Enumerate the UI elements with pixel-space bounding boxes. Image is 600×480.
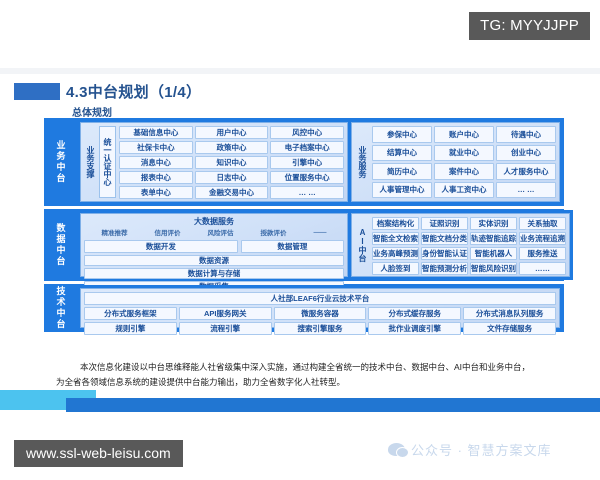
data-band-label: 数据中台: [45, 210, 77, 280]
cell[interactable]: 智能风险识别: [470, 262, 517, 275]
cell[interactable]: 消息中心: [119, 156, 193, 169]
cell[interactable]: 电子档案中心: [270, 141, 344, 154]
cell[interactable]: 流程引擎: [179, 322, 272, 335]
data-band-body: 大数据服务 精准推荐 信用评价 风险评估 授款评价 —— 数据开发 数据管理 数…: [77, 210, 573, 280]
cell[interactable]: 人事工资中心: [434, 182, 494, 199]
tech-platform-panel: 人社部LEAF6行业云技术平台 分布式服务框架 API服务网关 微服务容器 分布…: [80, 288, 560, 328]
cell[interactable]: 业务高峰预测: [372, 247, 419, 260]
cell[interactable]: 结算中心: [372, 145, 432, 162]
cell[interactable]: 就业中心: [434, 145, 494, 162]
cell[interactable]: 微服务容器: [274, 307, 367, 320]
business-band: 业务中台 业务支撑 统一认证中心 基础信息中心 用户中心 风控中心 社保卡中心 …: [44, 118, 564, 206]
cell[interactable]: 日志中心: [195, 171, 269, 184]
wechat-watermark-text: 公众号 · 智慧方案文库: [411, 440, 552, 459]
slide-subtitle: 总体规划: [72, 104, 112, 119]
data-resource-row: 数据资源: [84, 255, 344, 266]
architecture-diagram: 业务中台 业务支撑 统一认证中心 基础信息中心 用户中心 风控中心 社保卡中心 …: [44, 118, 564, 354]
slide-title-row: 4.3中台规划（1/4）: [14, 81, 201, 102]
cell[interactable]: 智能机器人: [470, 247, 517, 260]
data-platform-panel: 大数据服务 精准推荐 信用评价 风险评估 授款评价 —— 数据开发 数据管理 数…: [80, 213, 348, 277]
summary-line-2: 为全省各领域信息系统的建设提供中台能力输出，助力全省数字化人社转型。: [56, 375, 556, 390]
telegram-watermark: TG: MYYJJPP: [469, 12, 590, 40]
cell[interactable]: 简历中心: [372, 163, 432, 180]
cell[interactable]: 分布式缓存服务: [368, 307, 461, 320]
slide-canvas: 4.3中台规划（1/4） 总体规划 业务中台 业务支撑 统一认证中心 基础信息中…: [0, 68, 600, 412]
footer-accent-bar: [66, 398, 600, 412]
cell[interactable]: 档案结构化: [372, 217, 419, 230]
cell[interactable]: 身份智能认证: [421, 247, 468, 260]
cell[interactable]: 风控中心: [270, 126, 344, 139]
cell[interactable]: 知识中心: [195, 156, 269, 169]
summary-line-1: 本次信息化建设以中台思维释能人社省级集中深入实施，通过构建全省统一的技术中台、数…: [80, 362, 530, 372]
unified-auth-center-cell[interactable]: 统一认证中心: [99, 126, 116, 198]
data-band: 数据中台 大数据服务 精准推荐 信用评价 风险评估 授款评价 —— 数据开发 数…: [44, 209, 564, 281]
cell[interactable]: 待遇中心: [496, 126, 556, 143]
tag: 信用评价: [155, 227, 181, 237]
summary-paragraph: 本次信息化建设以中台思维释能人社省级集中深入实施，通过构建全省统一的技术中台、数…: [56, 360, 556, 390]
data-band-label-text: 数据中台: [53, 223, 69, 267]
cell[interactable]: 参保中心: [372, 126, 432, 143]
cell[interactable]: 引擎中心: [270, 156, 344, 169]
slide-top-band: [0, 68, 600, 74]
cell[interactable]: … …: [496, 182, 556, 199]
cell[interactable]: 数据计算与存储: [84, 268, 344, 279]
data-dev-manage-row: 数据开发 数据管理: [84, 240, 344, 253]
cell[interactable]: 搜索引擎服务: [274, 322, 367, 335]
cell[interactable]: 轨迹智能追踪: [470, 232, 517, 245]
tech-band: 技术中台 人社部LEAF6行业云技术平台 分布式服务框架 API服务网关 微服务…: [44, 284, 564, 332]
cell[interactable]: 报表中心: [119, 171, 193, 184]
tech-band-label: 技术中台: [45, 285, 77, 331]
cell[interactable]: 用户中心: [195, 126, 269, 139]
title-accent-bar: [14, 83, 60, 100]
cell[interactable]: 证照识别: [421, 217, 468, 230]
business-support-panel: 业务支撑 统一认证中心 基础信息中心 用户中心 风控中心 社保卡中心 政策中心 …: [80, 122, 348, 202]
cell[interactable]: 社保卡中心: [119, 141, 193, 154]
bigdata-service-title: 大数据服务: [84, 217, 344, 226]
url-watermark: www.ssl-web-leisu.com: [14, 440, 183, 467]
cell[interactable]: 基础信息中心: [119, 126, 193, 139]
cell[interactable]: 业务流程追溯: [519, 232, 566, 245]
cell[interactable]: 数据管理: [241, 240, 344, 253]
cell[interactable]: 案件中心: [434, 163, 494, 180]
business-support-grid: 基础信息中心 用户中心 风控中心 社保卡中心 政策中心 电子档案中心 消息中心 …: [119, 126, 344, 198]
tag: 精准推荐: [102, 227, 128, 237]
tech-cloud-banner: 人社部LEAF6行业云技术平台: [84, 292, 556, 305]
business-service-label: 业务服务: [355, 126, 370, 198]
cell[interactable]: ……: [519, 262, 566, 275]
bigdata-service-tags: 精准推荐 信用评价 风险评估 授款评价 ——: [84, 227, 344, 237]
tag: 风险评估: [208, 227, 234, 237]
cell[interactable]: 人脸签到: [372, 262, 419, 275]
cell[interactable]: 服务推送: [519, 247, 566, 260]
cell[interactable]: 政策中心: [195, 141, 269, 154]
cell[interactable]: 金融交易中心: [195, 186, 269, 199]
cell[interactable]: 创业中心: [496, 145, 556, 162]
cell[interactable]: 数据开发: [84, 240, 238, 253]
cell[interactable]: 表单中心: [119, 186, 193, 199]
cell[interactable]: 智能全文检索: [372, 232, 419, 245]
cell[interactable]: 数据资源: [84, 255, 344, 266]
wechat-icon: [388, 443, 405, 456]
ai-platform-label: AI中台: [355, 217, 370, 273]
business-service-grid: 参保中心 账户中心 待遇中心 结算中心 就业中心 创业中心 简历中心 案件中心 …: [372, 126, 556, 198]
ai-platform-grid: 档案结构化 证照识别 实体识别 关系抽取 智能全文检索 智能文档分类 轨迹智能追…: [372, 217, 566, 273]
tag: ——: [314, 229, 327, 236]
tag: 授款评价: [261, 227, 287, 237]
wechat-watermark: 公众号 · 智慧方案文库: [388, 440, 552, 459]
cell[interactable]: 账户中心: [434, 126, 494, 143]
cell[interactable]: 实体识别: [470, 217, 517, 230]
business-band-label: 业务中台: [45, 119, 77, 205]
cell[interactable]: 智能预测分析: [421, 262, 468, 275]
cell[interactable]: 智能文档分类: [421, 232, 468, 245]
cell[interactable]: 文件存储服务: [463, 322, 556, 335]
cell[interactable]: API服务网关: [179, 307, 272, 320]
business-support-label: 业务支撑: [84, 126, 97, 198]
business-band-label-text: 业务中台: [53, 140, 69, 184]
cell[interactable]: … …: [270, 186, 344, 199]
data-compute-row: 数据计算与存储: [84, 268, 344, 279]
tech-band-label-text: 技术中台: [53, 286, 69, 330]
cell[interactable]: 关系抽取: [519, 217, 566, 230]
page-title: 4.3中台规划（1/4）: [66, 81, 201, 102]
cell[interactable]: 批作业调度引擎: [368, 322, 461, 335]
cell[interactable]: 分布式消息队列服务: [463, 307, 556, 320]
business-service-panel: 业务服务 参保中心 账户中心 待遇中心 结算中心 就业中心 创业中心 简历中心 …: [351, 122, 560, 202]
cell[interactable]: 分布式服务框架: [84, 307, 177, 320]
tech-band-body: 人社部LEAF6行业云技术平台 分布式服务框架 API服务网关 微服务容器 分布…: [77, 285, 563, 331]
business-band-body: 业务支撑 统一认证中心 基础信息中心 用户中心 风控中心 社保卡中心 政策中心 …: [77, 119, 563, 205]
tech-platform-grid: 分布式服务框架 API服务网关 微服务容器 分布式缓存服务 分布式消息队列服务 …: [84, 307, 556, 335]
cell[interactable]: 人才服务中心: [496, 163, 556, 180]
cell[interactable]: 人事管理中心: [372, 182, 432, 199]
cell[interactable]: 位置服务中心: [270, 171, 344, 184]
cell[interactable]: 规则引擎: [84, 322, 177, 335]
ai-platform-panel: AI中台 档案结构化 证照识别 实体识别 关系抽取 智能全文检索 智能文档分类 …: [351, 213, 570, 277]
